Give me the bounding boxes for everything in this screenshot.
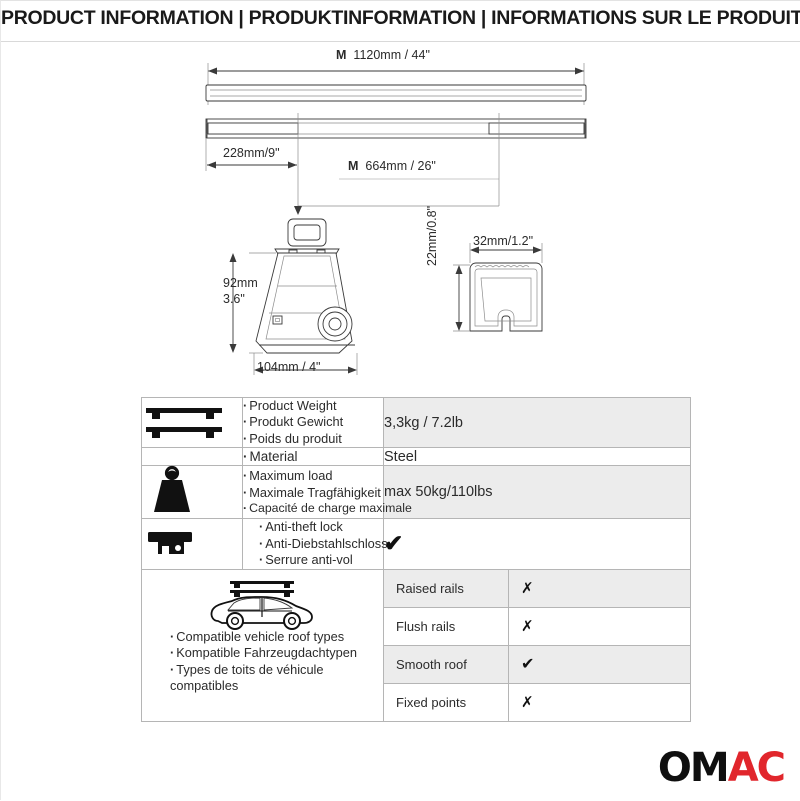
compat-row-fixed-points: Fixed points ✗: [384, 683, 690, 721]
roof-compatibility-table: Raised rails ✗ Flush rails ✗: [384, 570, 690, 721]
compat-mark: ✔: [509, 645, 691, 683]
material-value: Steel: [384, 448, 691, 466]
omac-logo: OMAC: [658, 748, 784, 788]
compat-row-flush-rails: Flush rails ✗: [384, 607, 690, 645]
compat-name: Raised rails: [384, 570, 509, 608]
foot-front-view: [230, 219, 358, 375]
cross-icon: ✗: [521, 617, 534, 635]
compat-row-raised-rails: Raised rails ✗: [384, 570, 690, 608]
label-fr: Capacité de charge maximale: [243, 501, 383, 517]
anti-theft-labels: Anti-theft lock Anti-Diebstahlschloss Se…: [243, 519, 384, 569]
maximum-load-labels: Maximum load Maximale Tragfähigkeit Capa…: [243, 466, 384, 519]
cross-icon: ✗: [521, 579, 534, 597]
compat-mark: ✗: [509, 683, 691, 721]
label-fr: Poids du produit: [243, 431, 383, 447]
label-en: Anti-theft lock: [259, 519, 383, 535]
page-title: PRODUCT INFORMATION | PRODUKTINFORMATION…: [1, 7, 800, 30]
lock-icon-cell: [142, 519, 243, 569]
roof-types-cell: Compatible vehicle roof types Kompatible…: [142, 569, 384, 721]
overall-dimension-prefix: M: [336, 48, 346, 62]
maximum-load-value: max 50kg/110lbs: [384, 466, 691, 519]
compat-mark: ✗: [509, 570, 691, 608]
car-with-rack-icon: [204, 577, 320, 633]
product-information-sheet: PRODUCT INFORMATION | PRODUKTINFORMATION…: [0, 0, 800, 800]
table-row: Product Weight Produkt Gewicht Poids du …: [142, 398, 691, 448]
crossbar-top-view: [206, 119, 586, 138]
compat-name: Smooth roof: [384, 645, 509, 683]
foot-height-label-line1: 92mm: [223, 276, 258, 290]
profile-height-label: 22mm/0.8": [425, 206, 439, 266]
compat-name: Flush rails: [384, 607, 509, 645]
cross-icon: ✗: [521, 693, 534, 711]
overall-dimension-value: 1120mm / 44": [353, 48, 429, 62]
weight-icon: [142, 466, 202, 518]
overall-dimension-label: M1120mm / 44": [336, 48, 430, 62]
crossbars-icon-cell: [142, 398, 243, 448]
bar-profile-cross-section: [453, 243, 542, 331]
span-dimension-prefix: M: [348, 159, 358, 173]
table-row: Compatible vehicle roof types Kompatible…: [142, 569, 691, 721]
label-fr: Types de toits de véhicule compatibles: [170, 662, 385, 695]
profile-width-label: 32mm/1.2": [473, 234, 533, 248]
label-en: Maximum load: [243, 468, 383, 484]
weight-icon-cell: [142, 466, 243, 519]
label-de: Maximale Tragfähigkeit: [243, 485, 383, 501]
compat-name: Fixed points: [384, 683, 509, 721]
roof-types-labels: Compatible vehicle roof types Kompatible…: [170, 629, 385, 695]
label-en: Product Weight: [243, 398, 383, 414]
header-divider: [1, 41, 800, 42]
checkmark-icon: ✔: [384, 530, 403, 556]
compat-row-smooth-roof: Smooth roof ✔: [384, 645, 690, 683]
span-dimension-value: 664mm / 26": [365, 159, 435, 173]
crossbar-side-view: [206, 85, 586, 101]
logo-text-red: AC: [728, 745, 784, 791]
label-en: Material: [243, 448, 383, 465]
overall-dimension-arrow: [208, 63, 584, 105]
label-de: Kompatible Fahrzeugdachtypen: [170, 645, 385, 661]
label-de: Produkt Gewicht: [243, 414, 383, 430]
foot-width-label: 104mm / 4": [257, 360, 321, 374]
foot-height-label-line2: 3.6": [223, 292, 245, 306]
lock-icon: [142, 524, 206, 564]
specification-table: Product Weight Produkt Gewicht Poids du …: [141, 397, 691, 722]
table-row: Anti-theft lock Anti-Diebstahlschloss Se…: [142, 519, 691, 569]
checkmark-icon: ✔: [521, 654, 534, 673]
label-en: Compatible vehicle roof types: [170, 629, 385, 645]
product-weight-value: 3,3kg / 7.2lb: [384, 398, 691, 448]
compat-mark: ✗: [509, 607, 691, 645]
crossbars-icon: [142, 400, 226, 446]
anti-theft-value: ✔: [384, 519, 691, 569]
logo-text-dark: OM: [658, 745, 728, 791]
material-labels: Material: [243, 448, 384, 466]
end-offset-dimension-label: 228mm/9": [223, 146, 280, 160]
label-de: Anti-Diebstahlschloss: [259, 536, 383, 552]
roof-compatibility-cell: Raised rails ✗ Flush rails ✗: [384, 569, 691, 721]
label-fr: Serrure anti-vol: [259, 552, 383, 568]
table-row: Maximum load Maximale Tragfähigkeit Capa…: [142, 466, 691, 519]
product-weight-labels: Product Weight Produkt Gewicht Poids du …: [243, 398, 384, 448]
table-row: Material Steel: [142, 448, 691, 466]
material-icon-cell: [142, 448, 243, 466]
span-dimension-label: M664mm / 26": [348, 159, 436, 173]
